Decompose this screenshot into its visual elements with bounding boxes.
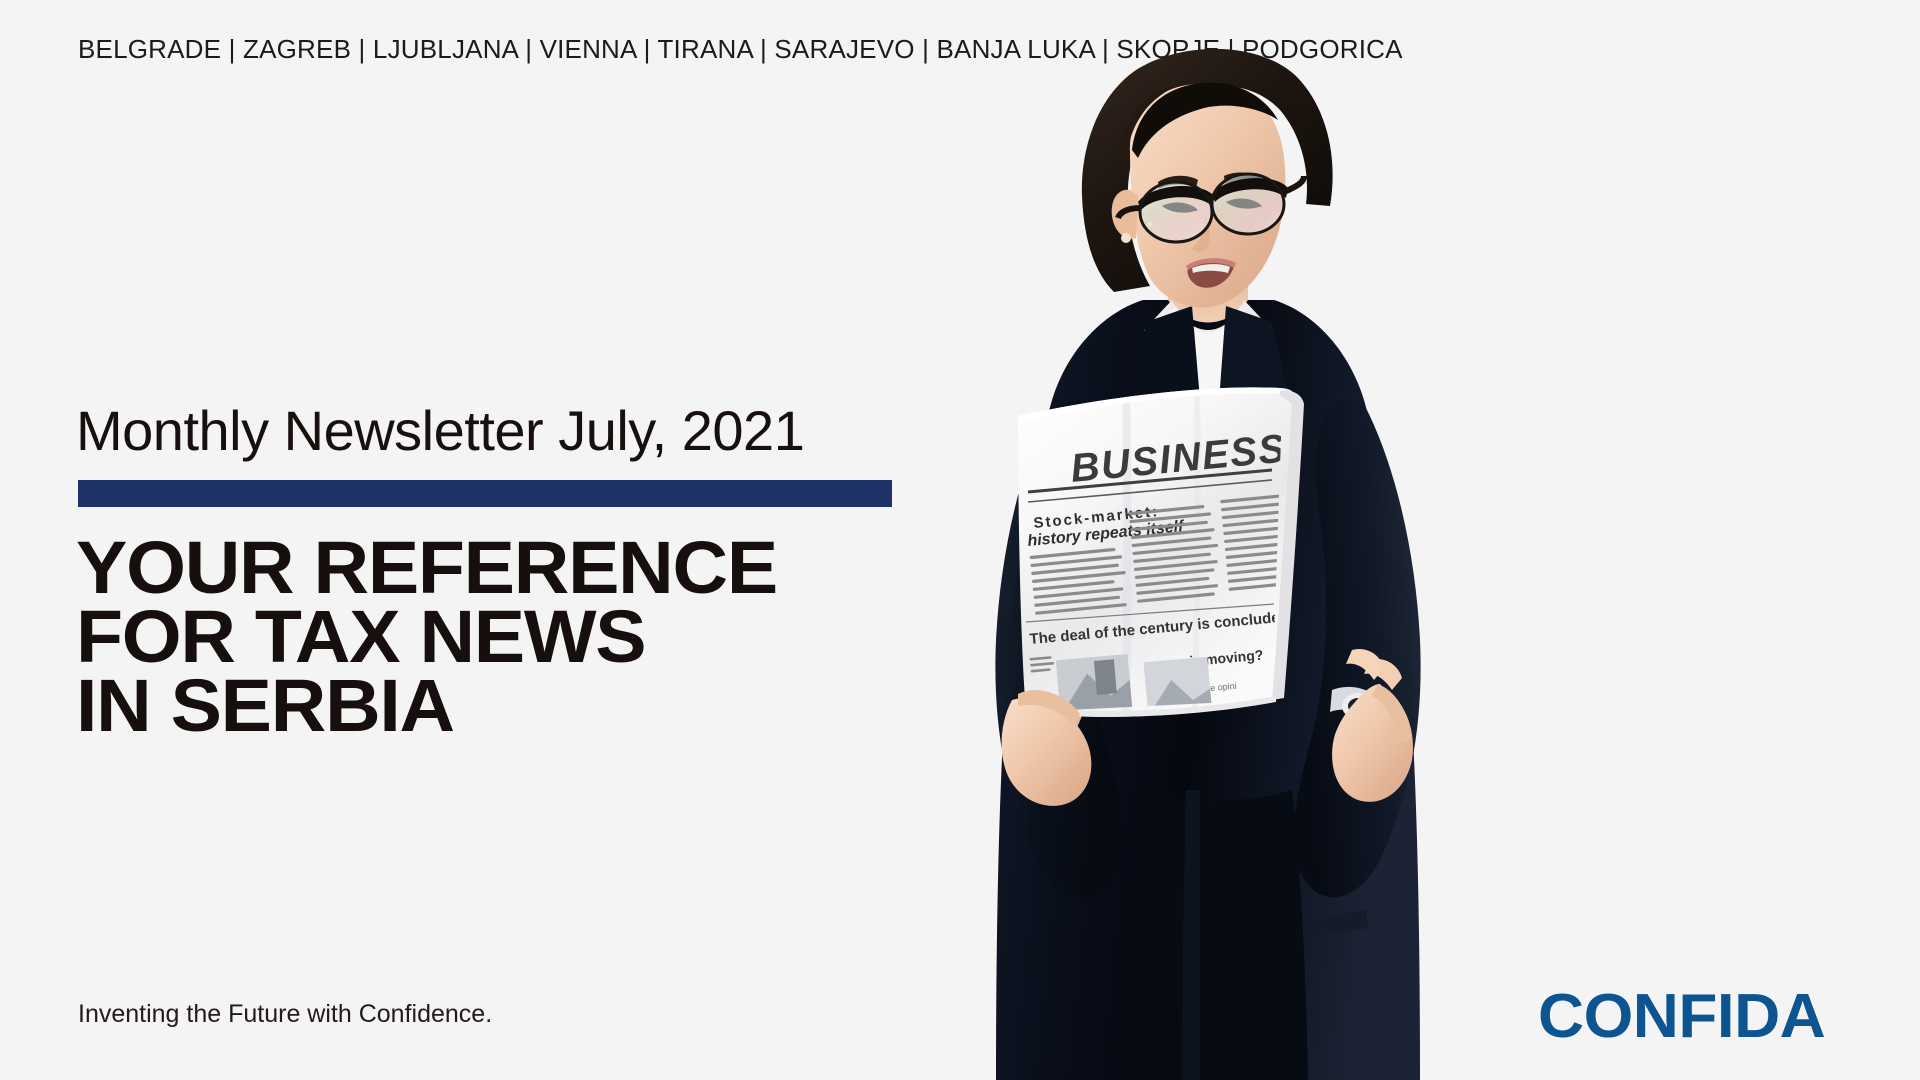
kicker-text: Monthly Newsletter July, 2021 [76, 398, 804, 463]
businesswoman-illustration: BUSINESS Stock-market: history repeats i… [900, 0, 1600, 1080]
earring [1121, 233, 1131, 243]
glasses-rivet [1148, 222, 1153, 227]
glasses-bridge [1210, 197, 1216, 198]
newsletter-cover: BELGRADE | ZAGREB | LJUBLJANA | VIENNA |… [0, 0, 1920, 1080]
page-title: YOUR REFERENCE FOR TAX NEWS IN SERBIA [76, 533, 777, 740]
accent-rule [78, 480, 892, 507]
headline-line-3: IN SERBIA [76, 671, 777, 740]
confida-logo: CONFIDA [1538, 981, 1825, 1052]
tagline-text: Inventing the Future with Confidence. [78, 1000, 492, 1029]
suit-front-lower [1114, 790, 1308, 1080]
headline-line-1: YOUR REFERENCE [76, 533, 777, 602]
glasses-temple [1284, 176, 1304, 192]
hero-photo: BUSINESS Stock-market: history repeats i… [900, 0, 1600, 1080]
headline-line-2: FOR TAX NEWS [76, 602, 777, 671]
